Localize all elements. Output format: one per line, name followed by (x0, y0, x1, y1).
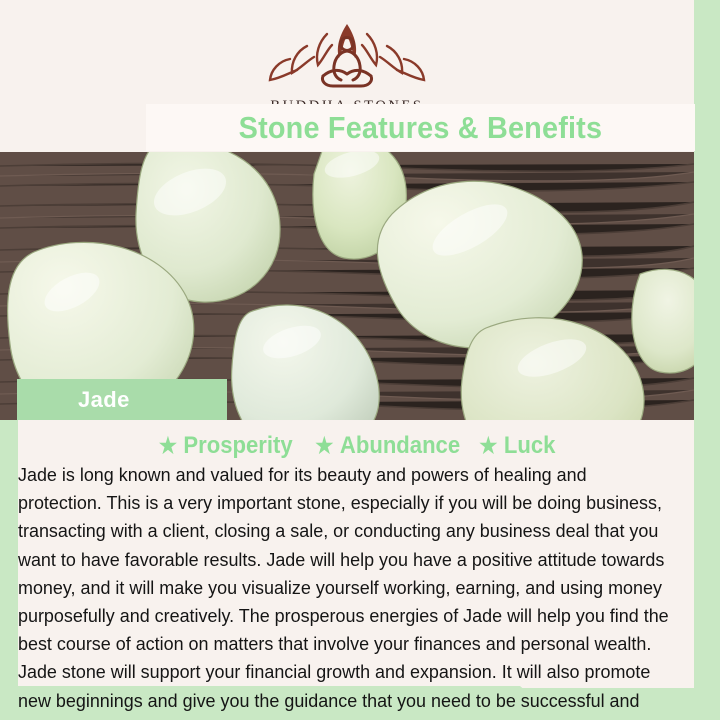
stone-description: Jade is long known and valued for its be… (18, 461, 670, 720)
benefit-label: Abundance (340, 432, 460, 460)
benefit-item-prosperity: ★ Prosperity (159, 432, 293, 460)
stone-name-label: Jade (78, 387, 130, 413)
star-icon: ★ (479, 435, 497, 457)
lotus-meditation-icon (263, 18, 431, 94)
benefit-item-abundance: ★ Abundance (315, 432, 460, 460)
star-icon: ★ (315, 435, 333, 457)
star-icon: ★ (159, 435, 177, 457)
benefit-label: Prosperity (184, 432, 293, 460)
infographic-card: BUDDHA STONES Stone Features & Benefits (0, 0, 720, 720)
title-band: Stone Features & Benefits (146, 104, 695, 151)
page-title: Stone Features & Benefits (239, 110, 603, 146)
benefits-row: ★ Prosperity ★ Abundance ★ Luck (18, 430, 694, 462)
benefit-label: Luck (504, 432, 556, 460)
stone-name-band: Jade (17, 379, 227, 420)
brand-logo: BUDDHA STONES (0, 18, 694, 115)
benefit-item-luck: ★ Luck (479, 432, 555, 460)
decor-green-right-band (694, 0, 720, 720)
